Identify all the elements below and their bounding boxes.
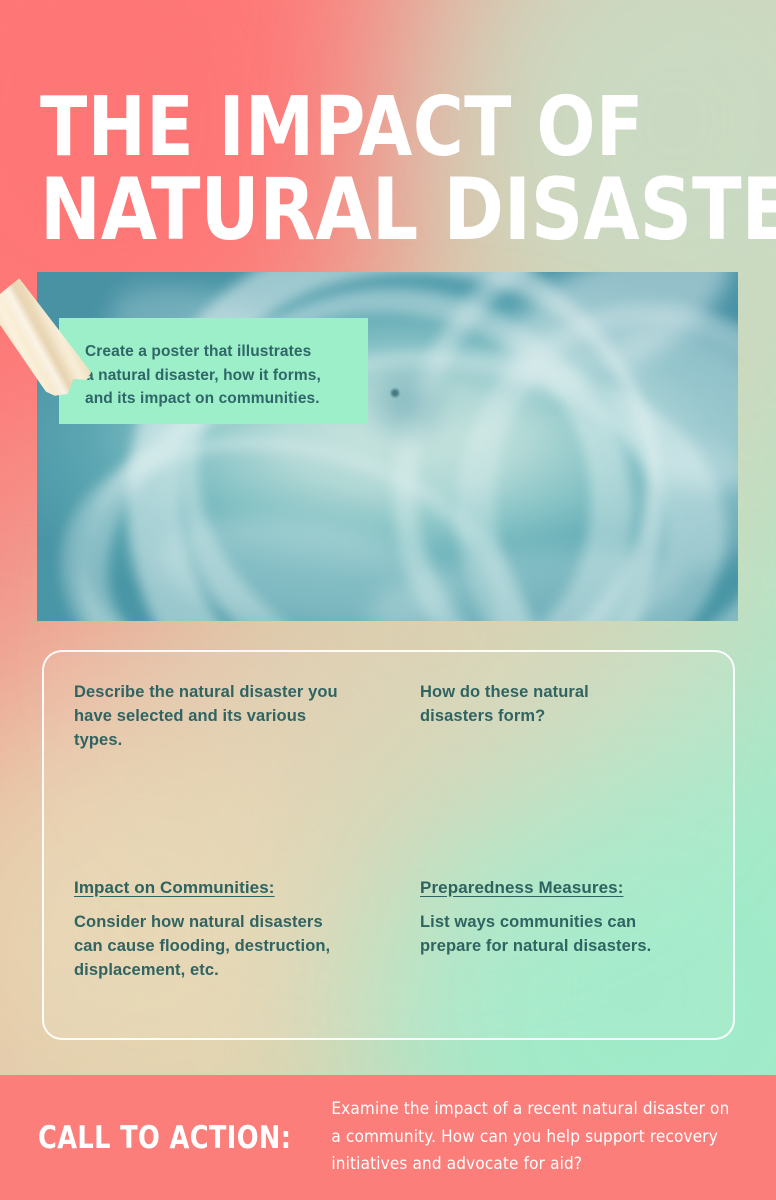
poster-canvas: THE IMPACT OF NATURAL DISASTERS Create a… [0,0,776,1200]
prompt-line: displacement, etc. [74,958,359,982]
prompt-card-grid: Describe the natural disaster you have s… [44,652,733,1038]
poster-title-line-1: THE IMPACT OF [40,88,704,168]
prompt-heading-impact: Impact on Communities: [74,878,359,898]
prompt-heading-preparedness: Preparedness Measures: [420,878,705,898]
prompt-text-top-right: How do these natural disasters form? [420,680,705,728]
hero-caption-box: Create a poster that illustrates a natur… [59,318,368,424]
prompt-line: disasters form? [420,704,705,728]
prompt-quadrant-bottom-right[interactable]: Preparedness Measures: List ways communi… [390,850,733,1038]
call-to-action-line: initiatives and advocate for aid? [331,1151,729,1179]
call-to-action-label: CALL TO ACTION: [38,1120,291,1156]
prompt-line: prepare for natural disasters. [420,934,705,958]
poster-title: THE IMPACT OF NATURAL DISASTERS [40,88,704,253]
prompt-line: can cause flooding, destruction, [74,934,359,958]
prompt-text-top-left: Describe the natural disaster you have s… [74,680,359,752]
call-to-action-line: Examine the impact of a recent natural d… [331,1096,729,1124]
prompt-line: have selected and its various [74,704,359,728]
hero-caption-line: a natural disaster, how it forms, [85,364,347,388]
prompt-quadrant-bottom-left[interactable]: Impact on Communities: Consider how natu… [44,850,387,1038]
call-to-action-body: Examine the impact of a recent natural d… [331,1096,729,1179]
hero-caption-line: and its impact on communities. [85,387,347,411]
prompt-text-bottom-right: List ways communities can prepare for na… [420,910,705,958]
prompt-card: Describe the natural disaster you have s… [42,650,735,1040]
call-to-action-line: a community. How can you help support re… [331,1124,729,1152]
prompt-quadrant-top-left[interactable]: Describe the natural disaster you have s… [44,652,387,847]
prompt-line: Consider how natural disasters [74,910,359,934]
poster-title-line-2: NATURAL DISASTERS [40,168,704,252]
prompt-line: Describe the natural disaster you [74,680,359,704]
call-to-action-band: CALL TO ACTION: Examine the impact of a … [0,1075,776,1200]
prompt-line: How do these natural [420,680,705,704]
prompt-text-bottom-left: Consider how natural disasters can cause… [74,910,359,982]
prompt-quadrant-top-right[interactable]: How do these natural disasters form? [390,652,733,847]
hero-caption-line: Create a poster that illustrates [85,340,347,364]
prompt-line: List ways communities can [420,910,705,934]
prompt-line: types. [74,728,359,752]
